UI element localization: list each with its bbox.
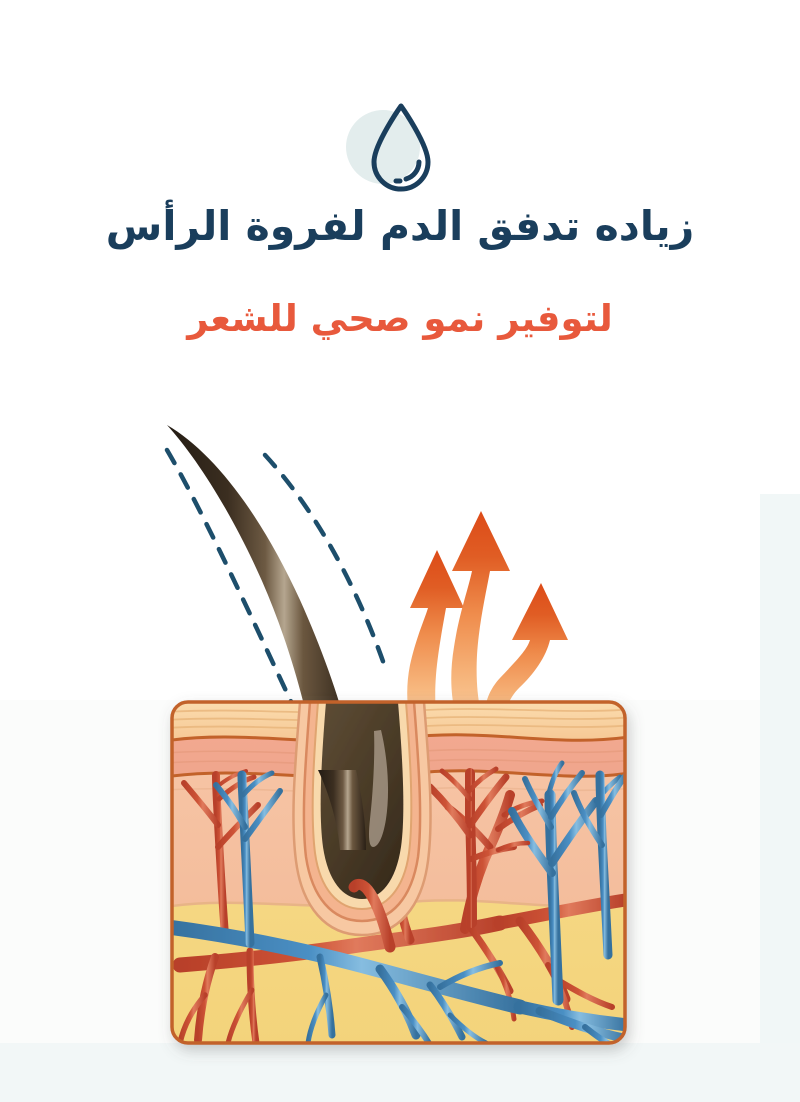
water-drop-icon [366,100,436,200]
skin-cross-section [165,702,635,1051]
headline-primary: زياده تدفق الدم لفروة الرأس [0,206,800,247]
scalp-cross-section-illustration [0,395,800,1075]
poster-root: زياده تدفق الدم لفروة الرأس لتوفير نمو ص… [0,0,800,1102]
headline-secondary: لتوفير نمو صحي للشعر [0,300,800,337]
water-drop-icon-group [340,100,460,205]
